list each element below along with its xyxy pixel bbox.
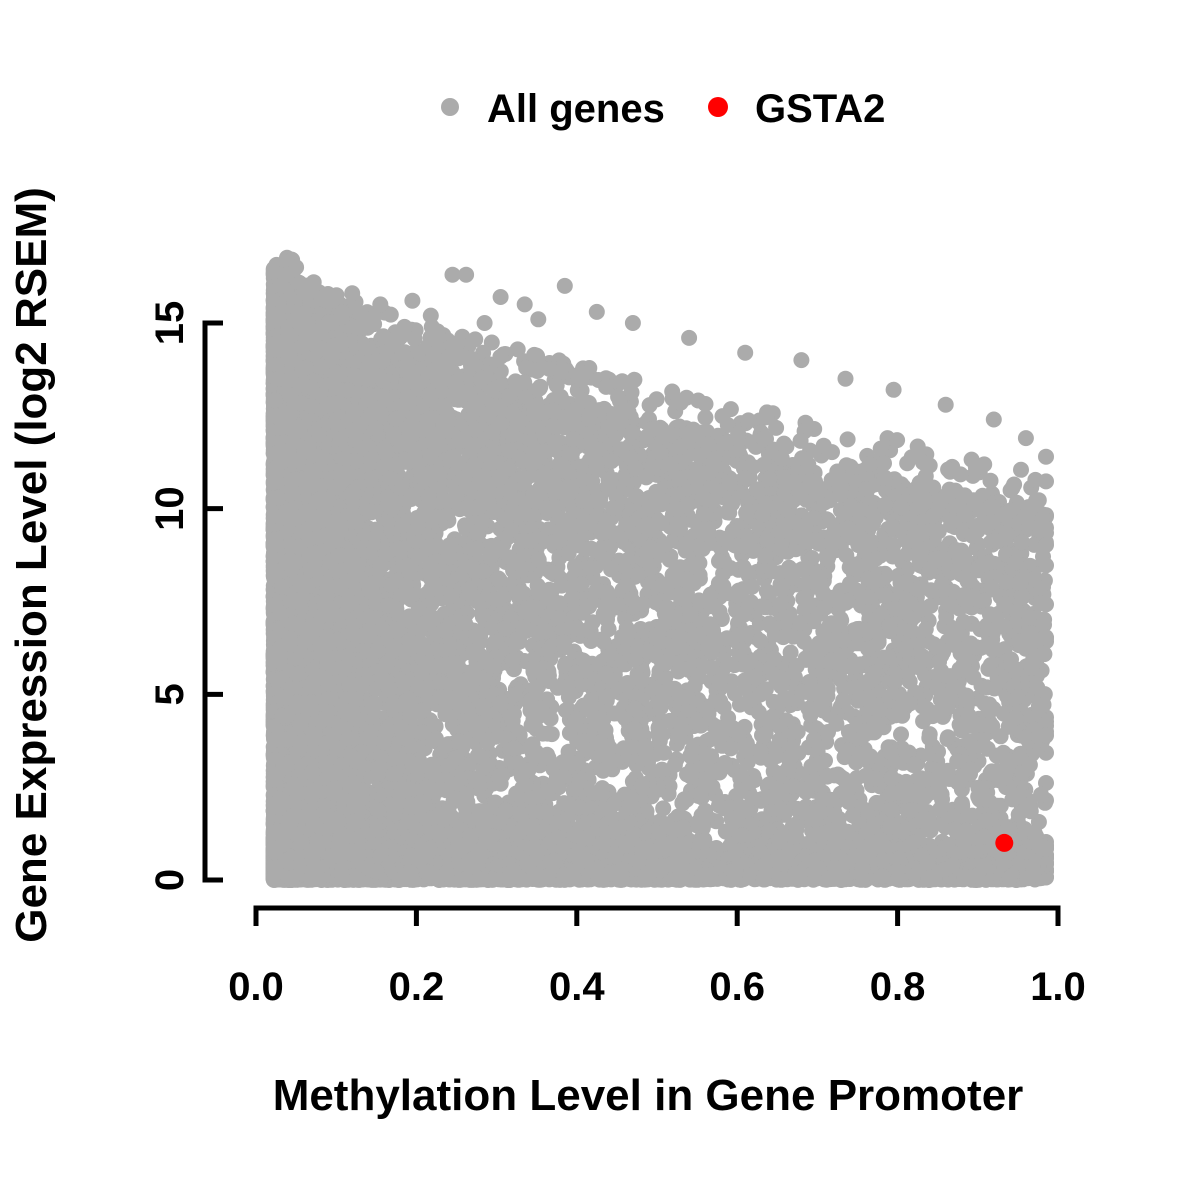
scatter-plot-figure: 051015 0.00.20.40.60.81.0 Methylation Le… [0, 0, 1200, 1200]
data-point [1038, 557, 1054, 573]
all-genes-point-cloud [266, 250, 1054, 888]
data-point [893, 726, 909, 742]
plot-canvas: 051015 0.00.20.40.60.81.0 Methylation Le… [0, 0, 1200, 1200]
data-point [983, 473, 999, 489]
